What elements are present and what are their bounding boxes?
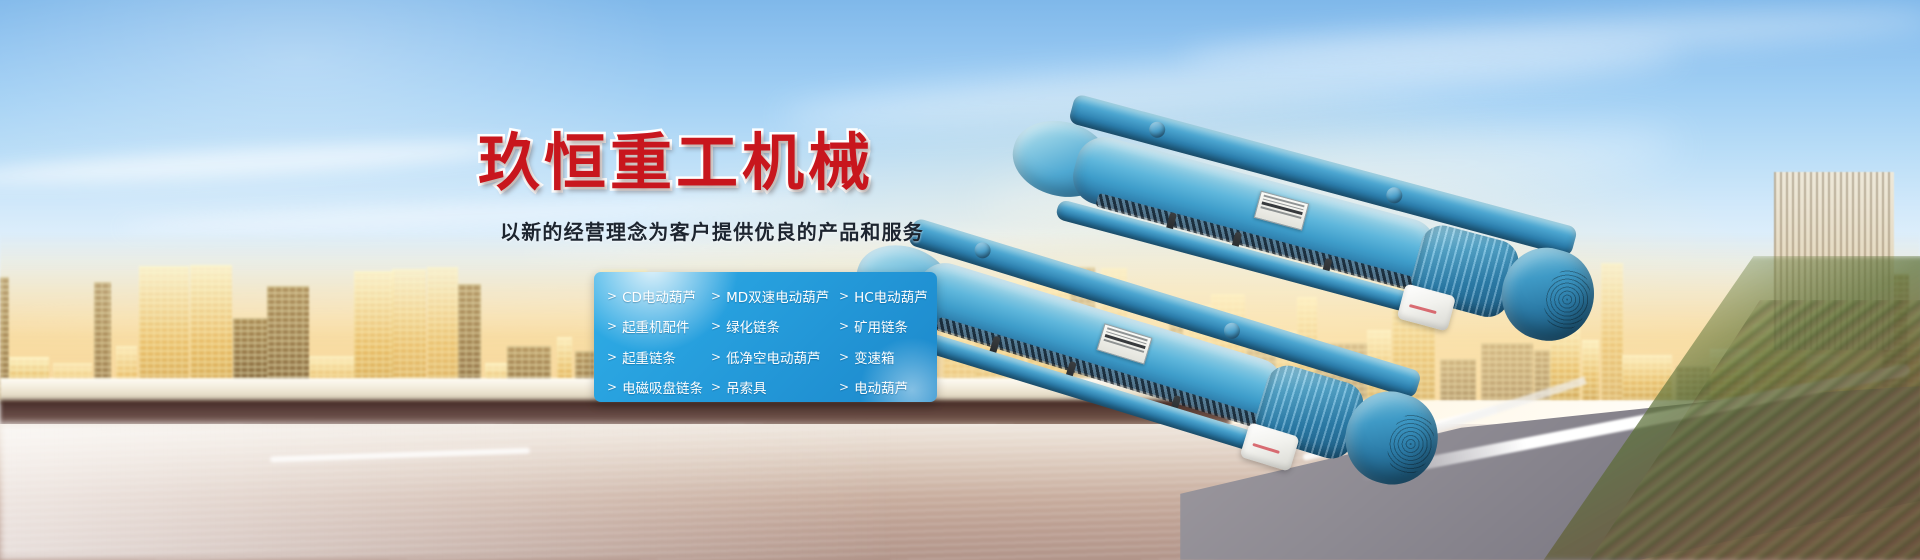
city-building (1582, 340, 1599, 400)
product-link[interactable]: >起重链条 (594, 347, 698, 367)
product-link-label: 电磁吸盘链条 (622, 377, 703, 397)
chevron-right-icon: > (607, 319, 617, 333)
chevron-right-icon: > (839, 319, 849, 333)
city-building (1392, 284, 1435, 400)
product-links-panel: >CD电动葫芦>MD双速电动葫芦>HC电动葫芦>起重机配件>绿化链条>矿用链条>… (594, 272, 937, 402)
city-building (1367, 330, 1391, 400)
chevron-right-icon: > (839, 289, 849, 303)
road-highlight (0, 424, 900, 560)
city-building (1315, 343, 1367, 400)
product-link[interactable]: >电磁吸盘链条 (594, 377, 698, 397)
hero-banner: 玖恒重工机械 以新的经营理念为客户提供优良的产品和服务 >CD电动葫芦>MD双速… (0, 0, 1920, 560)
city-building (1276, 331, 1297, 400)
chevron-right-icon: > (711, 350, 721, 364)
product-link[interactable]: >低净空电动葫芦 (698, 347, 826, 367)
product-link-label: 变速箱 (854, 347, 895, 367)
product-link[interactable]: >电动葫芦 (826, 377, 937, 397)
chevron-right-icon: > (607, 380, 617, 394)
chevron-right-icon: > (839, 350, 849, 364)
chevron-right-icon: > (711, 319, 721, 333)
page-title: 玖恒重工机械 (478, 112, 874, 202)
chevron-right-icon: > (839, 380, 849, 394)
product-link-label: 起重链条 (622, 347, 676, 367)
city-building (1601, 263, 1623, 400)
product-link[interactable]: >MD双速电动葫芦 (698, 286, 826, 306)
city-building (1297, 297, 1317, 400)
product-link[interactable]: >变速箱 (826, 347, 937, 367)
product-link[interactable]: >起重机配件 (594, 316, 698, 336)
product-link[interactable]: >HC电动葫芦 (826, 286, 937, 306)
product-link-label: 起重机配件 (622, 316, 690, 336)
chevron-right-icon: > (607, 289, 617, 303)
chevron-right-icon: > (711, 289, 721, 303)
city-building (1246, 331, 1277, 400)
product-link[interactable]: >吊索具 (698, 377, 826, 397)
chevron-right-icon: > (711, 380, 721, 394)
city-skyline (0, 232, 1920, 400)
product-link[interactable]: >CD电动葫芦 (594, 286, 698, 306)
product-link-label: 吊索具 (726, 377, 767, 397)
product-link-label: HC电动葫芦 (854, 286, 928, 306)
product-link-label: 低净空电动葫芦 (726, 347, 821, 367)
city-building (1481, 343, 1533, 400)
product-link-label: 绿化链条 (726, 316, 780, 336)
product-link[interactable]: >矿用链条 (826, 316, 937, 336)
page-subtitle: 以新的经营理念为客户提供优良的产品和服务 (500, 216, 924, 245)
product-link-label: CD电动葫芦 (622, 286, 696, 306)
chevron-right-icon: > (607, 350, 617, 364)
product-link[interactable]: >绿化链条 (698, 316, 826, 336)
product-link-label: MD双速电动葫芦 (726, 286, 829, 306)
city-building (1440, 359, 1476, 400)
product-link-label: 电动葫芦 (854, 377, 908, 397)
product-link-label: 矿用链条 (854, 316, 908, 336)
